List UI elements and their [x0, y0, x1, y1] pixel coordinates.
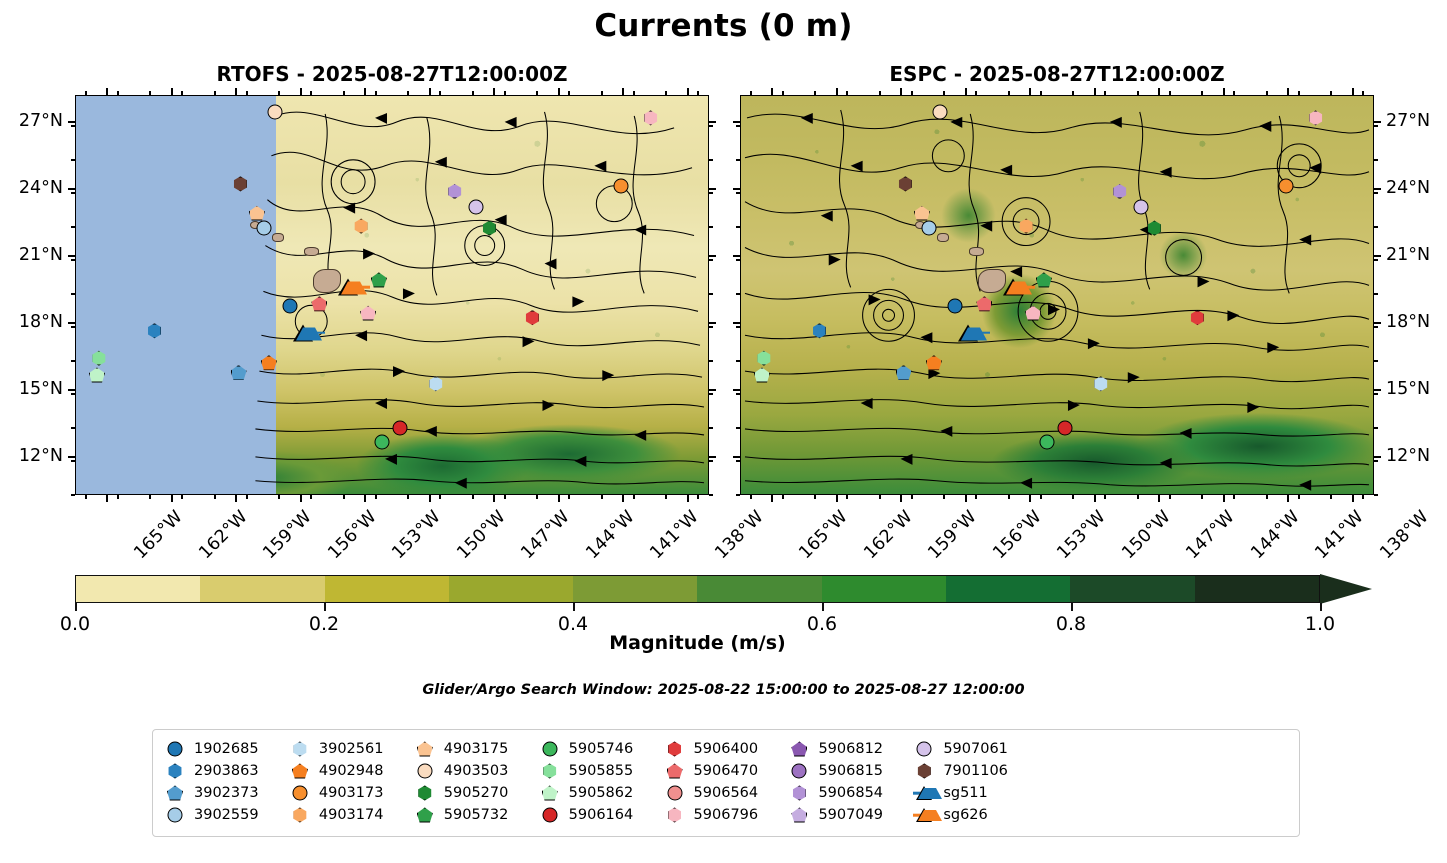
lon-tick-minor [601, 91, 603, 95]
lat-tick-minor [71, 360, 75, 362]
legend-item-4902948[interactable]: 4902948 [290, 760, 415, 782]
lon-tick-minor [246, 91, 248, 95]
lon-tick-minor [278, 495, 280, 499]
lat-label: 24°N [1386, 178, 1447, 198]
lon-tick [171, 495, 173, 502]
lon-label: 138°W [711, 507, 767, 563]
lon-tick [1158, 495, 1160, 502]
lon-tick-minor [943, 91, 945, 95]
lon-tick [1223, 495, 1225, 502]
lat-tick-minor [709, 494, 713, 496]
lon-label: 159°W [260, 507, 316, 563]
lon-tick-minor [310, 495, 312, 499]
triangle-marker [916, 786, 932, 800]
lon-tick-minor [85, 91, 87, 95]
colorbar-band-6 [822, 576, 946, 602]
legend-item-label: 5906164 [569, 807, 634, 823]
lon-tick-minor [439, 495, 441, 499]
lon-tick-minor [1362, 495, 1364, 499]
lon-tick [900, 88, 902, 95]
lon-tick [687, 495, 689, 502]
lat-tick-minor [71, 460, 75, 462]
colorbar-label: Magnitude (m/s) [75, 632, 1320, 654]
hexagon-marker [292, 808, 307, 823]
lon-tick-minor [1104, 91, 1106, 95]
lat-label: 27°N [0, 111, 63, 131]
lon-tick-minor [439, 91, 441, 95]
legend-item-label: 5906854 [818, 785, 883, 801]
lon-label: 150°W [1118, 507, 1174, 563]
legend-symbol-5905270 [415, 783, 435, 803]
legend-item-1902685[interactable]: 1902685 [165, 738, 290, 760]
legend-item-5906815[interactable]: 5906815 [789, 760, 914, 782]
lon-tick-minor [1362, 91, 1364, 95]
lon-tick-minor [782, 91, 784, 95]
legend-item-4903175[interactable]: 4903175 [415, 738, 540, 760]
legend-symbol-5906812 [789, 739, 809, 759]
legend-item-5905746[interactable]: 5905746 [540, 738, 665, 760]
lon-tick-minor [697, 495, 699, 499]
lon-label: 165°W [796, 507, 852, 563]
lat-label: 21°N [1386, 245, 1447, 265]
lat-tick [709, 255, 716, 257]
lat-tick [733, 121, 740, 123]
lat-tick-minor [71, 159, 75, 161]
lon-tick-minor [536, 495, 538, 499]
lon-tick-minor [1040, 495, 1042, 499]
lat-tick-minor [709, 159, 713, 161]
lon-tick-minor [343, 495, 345, 499]
lon-tick [493, 88, 495, 95]
lat-tick-minor [709, 259, 713, 261]
lon-tick [364, 88, 366, 95]
colorbar-tick [324, 603, 326, 611]
lon-tick-minor [782, 495, 784, 499]
lat-tick-minor [1374, 494, 1378, 496]
lon-tick [1029, 495, 1031, 502]
circle-marker [792, 764, 807, 779]
lon-tick-minor [536, 91, 538, 95]
lon-tick-minor [472, 495, 474, 499]
lon-tick-minor [1072, 495, 1074, 499]
legend-item-label: 1902685 [194, 741, 259, 757]
circle-marker [542, 742, 557, 757]
lon-tick [1352, 88, 1354, 95]
legend-symbol-4903175 [415, 739, 435, 759]
legend-symbol-2903863 [165, 761, 185, 781]
legend-item-label: 3902559 [194, 807, 259, 823]
legend-item-label: 5906400 [694, 741, 759, 757]
legend-symbol-3902561 [290, 739, 310, 759]
colorbar-band-0 [76, 576, 200, 602]
colorbar-band-8 [1070, 576, 1194, 602]
legend-symbol-5907061 [914, 739, 934, 759]
lon-tick-minor [846, 91, 848, 95]
lon-tick-minor [1201, 495, 1203, 499]
lat-tick [1374, 121, 1381, 123]
lon-tick [1223, 88, 1225, 95]
lon-label: 150°W [453, 507, 509, 563]
lat-label: 27°N [1386, 111, 1447, 131]
legend-symbol-5907049 [789, 805, 809, 825]
lon-tick [300, 495, 302, 502]
lon-tick-minor [1137, 91, 1139, 95]
lon-tick [558, 88, 560, 95]
lon-tick-minor [1072, 91, 1074, 95]
lon-label: 147°W [1182, 507, 1238, 563]
legend-symbol-5906470 [665, 761, 685, 781]
lon-tick [235, 495, 237, 502]
lon-tick-minor [846, 495, 848, 499]
legend-item-label: 4903175 [444, 741, 509, 757]
lon-tick-minor [149, 91, 151, 95]
lat-label: 12°N [1386, 446, 1447, 466]
lat-label: 15°N [0, 379, 63, 399]
colorbar-band-1 [200, 576, 324, 602]
lat-tick-minor [1374, 293, 1378, 295]
legend-item-4903173[interactable]: 4903173 [290, 782, 415, 804]
lon-label: 138°W [1376, 507, 1432, 563]
legend-symbol-5906400 [665, 739, 685, 759]
lat-tick [733, 389, 740, 391]
legend-item-3902559[interactable]: 3902559 [165, 804, 290, 826]
hexagon-marker [917, 764, 932, 779]
pentagon-marker [417, 742, 433, 757]
legend-item-5905270[interactable]: 5905270 [415, 782, 540, 804]
pentagon-marker [791, 808, 807, 823]
legend-item-label: 5906815 [818, 763, 883, 779]
lat-tick-minor [71, 293, 75, 295]
hexagon-marker [667, 742, 682, 757]
lon-tick [965, 88, 967, 95]
lon-tick [965, 495, 967, 502]
lon-tick-minor [1040, 91, 1042, 95]
lon-tick-minor [1266, 91, 1268, 95]
lat-tick-minor [736, 259, 740, 261]
circle-marker [417, 764, 432, 779]
lat-tick-minor [71, 259, 75, 261]
legend-item-5906812[interactable]: 5906812 [789, 738, 914, 760]
colorbar-band-2 [325, 576, 449, 602]
legend-item-label: 5906564 [694, 785, 759, 801]
lon-tick [1287, 495, 1289, 502]
circle-marker [168, 742, 183, 757]
lon-tick-minor [1008, 91, 1010, 95]
lon-label: 153°W [1054, 507, 1110, 563]
colorbar-tick [1071, 603, 1073, 611]
lat-tick [709, 456, 716, 458]
lat-label: 18°N [0, 312, 63, 332]
lon-tick [771, 495, 773, 502]
pentagon-marker [167, 786, 183, 801]
lat-tick [68, 255, 75, 257]
hexagon-marker [542, 764, 557, 779]
lat-tick [733, 188, 740, 190]
lon-tick [1029, 88, 1031, 95]
lon-tick-minor [568, 495, 570, 499]
lon-tick-minor [504, 495, 506, 499]
lon-tick-minor [943, 495, 945, 499]
lon-label: 156°W [989, 507, 1045, 563]
legend-item-3902561[interactable]: 3902561 [290, 738, 415, 760]
lon-tick [1094, 88, 1096, 95]
lat-tick-minor [71, 192, 75, 194]
legend-item-label: 4903174 [319, 807, 384, 823]
lat-tick [68, 188, 75, 190]
lat-tick-minor [71, 393, 75, 395]
lon-tick [900, 495, 902, 502]
legend-item-7901106[interactable]: 7901106 [914, 760, 1039, 782]
lat-tick-minor [71, 427, 75, 429]
lat-tick-minor [709, 393, 713, 395]
lon-label: 141°W [1311, 507, 1367, 563]
lat-tick-minor [736, 460, 740, 462]
lon-tick-minor [1233, 495, 1235, 499]
lon-tick-minor [1330, 91, 1332, 95]
legend-symbol-sg511 [914, 783, 934, 803]
lon-tick [622, 495, 624, 502]
legend-item-label: 4903503 [444, 763, 509, 779]
lon-tick-minor [117, 495, 119, 499]
legend-item-label: 4903173 [319, 785, 384, 801]
legend-item-label: 3902373 [194, 785, 259, 801]
legend-item-5906854[interactable]: 5906854 [789, 782, 914, 804]
legend-item-4903503[interactable]: 4903503 [415, 760, 540, 782]
lat-tick-minor [1374, 192, 1378, 194]
legend-symbol-5906815 [789, 761, 809, 781]
lat-tick-minor [736, 159, 740, 161]
lon-tick-minor [697, 91, 699, 95]
lon-tick-minor [1104, 495, 1106, 499]
legend-item-5907049[interactable]: 5907049 [789, 804, 914, 826]
lat-tick-minor [1374, 326, 1378, 328]
lat-tick-minor [736, 326, 740, 328]
legend-item-5906796[interactable]: 5906796 [665, 804, 790, 826]
lon-tick-minor [278, 91, 280, 95]
lon-label: 165°W [131, 507, 187, 563]
legend-item-label: 3902561 [319, 741, 384, 757]
lat-tick-minor [71, 494, 75, 496]
colorbar-tick [75, 603, 77, 611]
platform-legend[interactable]: 1902685290386339023733902559390256149029… [152, 729, 1300, 837]
lon-tick-minor [750, 495, 752, 499]
colorbar-tick [573, 603, 575, 611]
lon-label: 144°W [1247, 507, 1303, 563]
legend-item-label: 5906470 [694, 763, 759, 779]
legend-symbol-4903503 [415, 761, 435, 781]
lat-tick-minor [1374, 125, 1378, 127]
colorbar-band-9 [1195, 576, 1319, 602]
lat-tick [1374, 389, 1381, 391]
lon-tick-minor [1137, 495, 1139, 499]
legend-item-3902373[interactable]: 3902373 [165, 782, 290, 804]
colorbar-band-4 [573, 576, 697, 602]
pentagon-marker [542, 786, 558, 801]
lon-tick-minor [911, 495, 913, 499]
circle-marker [168, 808, 183, 823]
lon-tick-minor [814, 495, 816, 499]
lon-label: 156°W [324, 507, 380, 563]
lon-tick-minor [375, 91, 377, 95]
legend-item-label: 7901106 [943, 763, 1008, 779]
lat-tick-minor [736, 226, 740, 228]
pentagon-marker [791, 742, 807, 757]
lat-tick [1374, 255, 1381, 257]
lat-tick-minor [736, 427, 740, 429]
pentagon-marker [292, 764, 308, 779]
lat-tick-minor [709, 125, 713, 127]
colorbar-band-3 [449, 576, 573, 602]
lon-tick [1094, 495, 1096, 502]
lon-tick-minor [375, 495, 377, 499]
lat-tick-minor [1374, 159, 1378, 161]
legend-symbol-7901106 [914, 761, 934, 781]
lat-tick-minor [736, 360, 740, 362]
lon-label: 162°W [195, 507, 251, 563]
legend-symbol-4903174 [290, 805, 310, 825]
lon-tick-minor [975, 91, 977, 95]
legend-symbol-1902685 [165, 739, 185, 759]
lat-tick-minor [709, 460, 713, 462]
legend-item-label: 5907061 [943, 741, 1008, 757]
lon-tick-minor [246, 495, 248, 499]
lat-tick-minor [709, 192, 713, 194]
lat-tick-minor [736, 125, 740, 127]
lon-tick-minor [1298, 91, 1300, 95]
lon-tick [429, 88, 431, 95]
lat-tick-minor [1374, 427, 1378, 429]
lat-label: 21°N [0, 245, 63, 265]
hexagon-marker [667, 808, 682, 823]
lon-tick-minor [181, 91, 183, 95]
lat-label: 24°N [0, 178, 63, 198]
legend-symbol-5906796 [665, 805, 685, 825]
legend-item-4903174[interactable]: 4903174 [290, 804, 415, 826]
lat-tick-minor [709, 226, 713, 228]
lat-tick-minor [709, 326, 713, 328]
lon-label: 162°W [860, 507, 916, 563]
lon-tick [687, 88, 689, 95]
lon-tick-minor [975, 495, 977, 499]
legend-symbol-5905862 [540, 783, 560, 803]
lon-tick-minor [1008, 495, 1010, 499]
legend-item-5905862[interactable]: 5905862 [540, 782, 665, 804]
legend-item-label: 4902948 [319, 763, 384, 779]
lat-tick [68, 121, 75, 123]
legend-symbol-5905732 [415, 805, 435, 825]
legend-symbol-5905855 [540, 761, 560, 781]
legend-item-5906400[interactable]: 5906400 [665, 738, 790, 760]
lat-tick-minor [1374, 393, 1378, 395]
legend-item-5906164[interactable]: 5906164 [540, 804, 665, 826]
triangle-marker [916, 808, 932, 822]
lon-tick [1352, 495, 1354, 502]
legend-item-label: 2903863 [194, 763, 259, 779]
legend-item-sg626[interactable]: sg626 [914, 804, 1039, 826]
legend-symbol-4902948 [290, 761, 310, 781]
lat-tick-minor [71, 226, 75, 228]
colorbar-gradient [75, 575, 1320, 603]
lat-tick [709, 389, 716, 391]
lon-tick-minor [310, 91, 312, 95]
lat-tick-minor [71, 125, 75, 127]
legend-symbol-sg626 [914, 805, 934, 825]
lon-tick-minor [504, 91, 506, 95]
lon-tick-minor [1169, 495, 1171, 499]
colorbar-band-7 [946, 576, 1070, 602]
lon-tick [771, 88, 773, 95]
lon-tick-minor [181, 495, 183, 499]
lon-tick-minor [214, 91, 216, 95]
lon-label: 153°W [389, 507, 445, 563]
lat-label: 15°N [1386, 379, 1447, 399]
colorbar[interactable]: 0.00.20.40.60.81.0 [75, 575, 1374, 603]
lon-label: 159°W [925, 507, 981, 563]
lon-tick [235, 88, 237, 95]
colorbar-band-5 [697, 576, 821, 602]
legend-item-5907061[interactable]: 5907061 [914, 738, 1039, 760]
legend-item-sg511[interactable]: sg511 [914, 782, 1039, 804]
legend-item-label: 5905270 [444, 785, 509, 801]
legend-item-5905855[interactable]: 5905855 [540, 760, 665, 782]
lon-tick-minor [85, 495, 87, 499]
legend-symbol-4903173 [290, 783, 310, 803]
legend-item-2903863[interactable]: 2903863 [165, 760, 290, 782]
lon-tick-minor [568, 91, 570, 95]
lat-tick-minor [736, 192, 740, 194]
lat-tick [1374, 188, 1381, 190]
lon-tick-minor [879, 495, 881, 499]
legend-item-5906470[interactable]: 5906470 [665, 760, 790, 782]
lon-tick [171, 88, 173, 95]
lon-label: 141°W [646, 507, 702, 563]
lon-tick-minor [665, 91, 667, 95]
lat-tick-minor [1374, 460, 1378, 462]
lat-label: 18°N [1386, 312, 1447, 332]
lon-tick [106, 495, 108, 502]
colorbar-tick [1320, 603, 1322, 611]
lon-tick-minor [214, 495, 216, 499]
lon-tick [558, 495, 560, 502]
legend-item-5906564[interactable]: 5906564 [665, 782, 790, 804]
lon-tick-minor [911, 91, 913, 95]
lon-tick-minor [750, 91, 752, 95]
lat-tick-minor [709, 360, 713, 362]
lat-tick-minor [709, 427, 713, 429]
legend-item-label: 5907049 [818, 807, 883, 823]
legend-symbol-3902559 [165, 805, 185, 825]
legend-item-label: 5905862 [569, 785, 634, 801]
lon-label: 144°W [582, 507, 638, 563]
lon-tick-minor [1266, 495, 1268, 499]
lon-tick-minor [1330, 495, 1332, 499]
legend-grid: 1902685290386339023733902559390256149029… [165, 738, 1289, 826]
lat-tick-minor [1374, 259, 1378, 261]
legend-item-label: 5906796 [694, 807, 759, 823]
hexagon-marker [292, 742, 307, 757]
lon-tick [106, 88, 108, 95]
lon-tick-minor [472, 91, 474, 95]
lat-tick [733, 322, 740, 324]
legend-item-label: 5905855 [569, 763, 634, 779]
lon-tick [1158, 88, 1160, 95]
legend-item-label: 5905732 [444, 807, 509, 823]
lat-tick-minor [1374, 226, 1378, 228]
lon-tick [622, 88, 624, 95]
legend-item-5905732[interactable]: 5905732 [415, 804, 540, 826]
lon-tick-minor [633, 495, 635, 499]
legend-symbol-5906854 [789, 783, 809, 803]
